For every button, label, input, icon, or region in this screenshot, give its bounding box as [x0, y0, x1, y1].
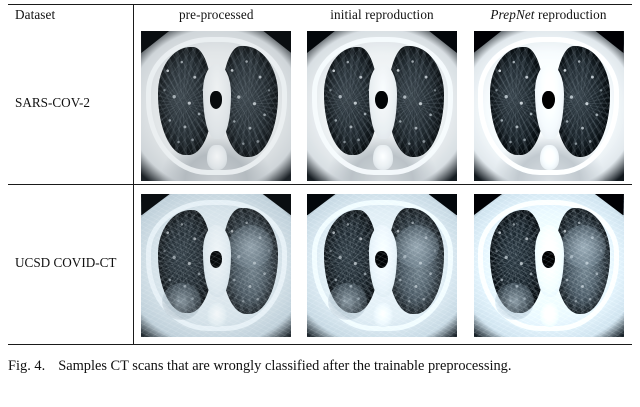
image-noise: [141, 194, 291, 337]
header-prepnet-rest: reproduction: [538, 7, 607, 22]
trachea: [210, 91, 223, 109]
cell-ucsd-initial: [299, 185, 465, 345]
image-noise: [474, 194, 624, 337]
ct-scan-image: [141, 194, 291, 337]
ct-scan-image: [307, 194, 457, 337]
row-label-ucsd-covid-ct: UCSD COVID-CT: [8, 185, 133, 345]
table-row: UCSD COVID-CT: [8, 185, 632, 345]
spine: [373, 145, 393, 171]
ct-scan-image: [474, 31, 624, 181]
figure-number: Fig. 4.: [8, 358, 45, 374]
image-corner-tl: [307, 31, 336, 54]
row-label-sars-cov-2: SARS-COV-2: [8, 25, 133, 185]
cell-sars-initial: [299, 25, 465, 185]
image-corner-tl: [474, 31, 503, 54]
spine: [540, 145, 560, 171]
spine: [207, 145, 227, 171]
figure-caption: Fig. 4.Samples CT scans that are wrongly…: [8, 355, 632, 377]
header-pre-processed: pre-processed: [133, 5, 299, 26]
image-corner-tr: [263, 31, 292, 54]
cell-sars-prepnet: [465, 25, 632, 185]
ct-scan-image: [307, 31, 457, 181]
header-initial-reproduction: initial reproduction: [299, 5, 465, 26]
table-header-row: Dataset pre-processed initial reproducti…: [8, 5, 632, 26]
header-prepnet-italic: PrepNet: [490, 7, 534, 22]
image-corner-tr: [595, 31, 624, 54]
cell-sars-preprocessed: [133, 25, 299, 185]
figure-caption-text: Samples CT scans that are wrongly classi…: [58, 358, 511, 374]
trachea: [542, 91, 555, 109]
trachea: [375, 91, 388, 109]
cell-ucsd-preprocessed: [133, 185, 299, 345]
cell-ucsd-prepnet: [465, 185, 632, 345]
image-corner-tl: [141, 31, 170, 54]
header-dataset: Dataset: [8, 5, 133, 26]
figure-page: Dataset pre-processed initial reproducti…: [0, 0, 640, 407]
image-noise: [307, 194, 457, 337]
ct-scan-image: [474, 194, 624, 337]
ct-scan-image: [141, 31, 291, 181]
results-table: Dataset pre-processed initial reproducti…: [8, 4, 632, 345]
table-row: SARS-COV-2: [8, 25, 632, 185]
header-prepnet-reproduction: PrepNet reproduction: [465, 5, 632, 26]
image-corner-tr: [429, 31, 458, 54]
